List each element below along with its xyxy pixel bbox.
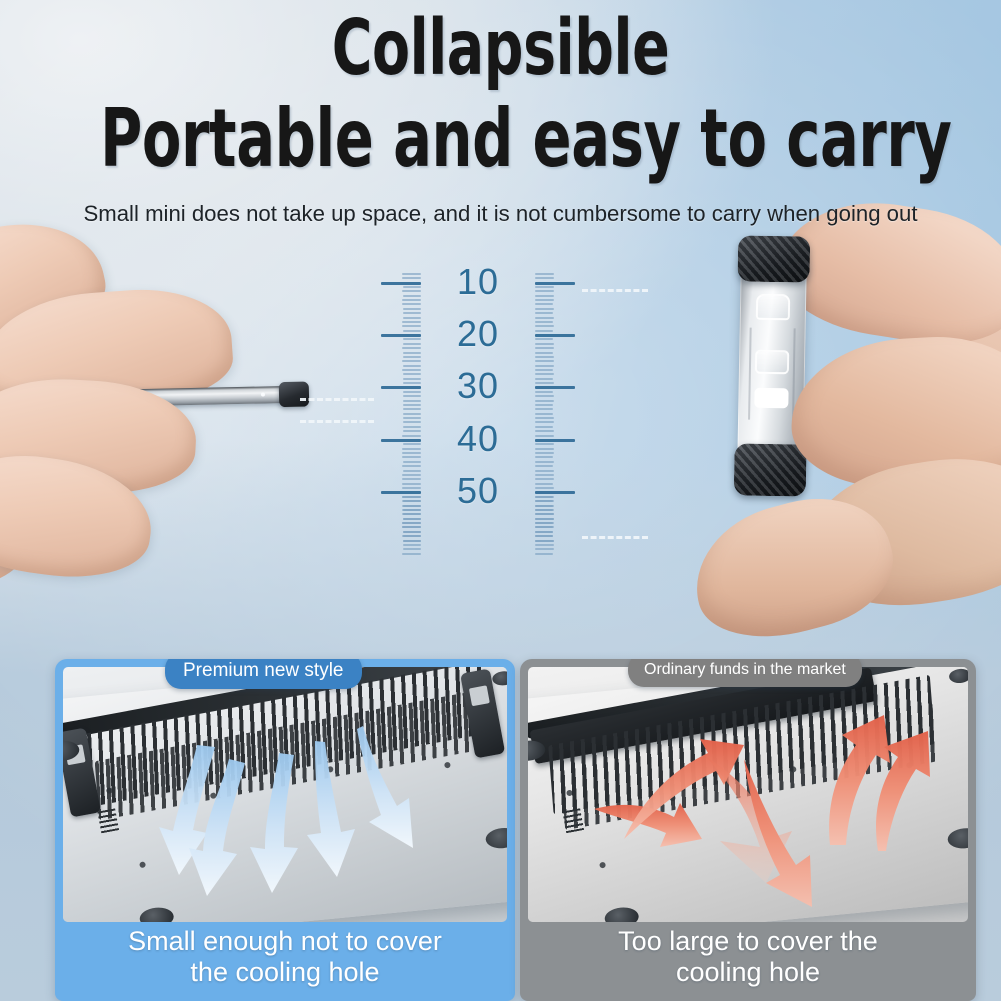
ruler-minor-tick	[535, 470, 554, 472]
ruler-minor-tick	[403, 518, 421, 520]
ruler-minor-tick	[535, 509, 554, 511]
ruler-minor-tick	[403, 413, 421, 415]
panel-ordinary: Ordinary funds in the market Too large t…	[520, 659, 976, 1001]
ruler-minor-tick	[403, 312, 421, 314]
caption-premium-line1: Small enough not to cover	[128, 926, 442, 957]
flat-stand-highlight-dot	[261, 392, 265, 396]
leader-line-top	[300, 398, 374, 401]
ruler-minor-tick	[403, 356, 421, 358]
ruler-minor-tick	[535, 483, 553, 485]
ruler-minor-tick	[402, 522, 421, 524]
subtitle-text: Small mini does not take up space, and i…	[8, 201, 994, 227]
ruler-minor-tick	[535, 338, 553, 340]
ruler-minor-tick	[535, 360, 554, 362]
ruler-major-tick	[381, 491, 421, 494]
ruler-minor-tick	[535, 317, 554, 319]
ruler-minor-tick	[403, 544, 421, 546]
ruler-minor-tick	[403, 535, 421, 537]
ruler-minor-tick	[402, 290, 421, 292]
ruler-minor-tick	[535, 365, 554, 367]
ruler-minor-tick	[535, 369, 553, 371]
ruler-minor-tick	[535, 277, 554, 279]
ruler-minor-tick	[403, 540, 421, 542]
ruler-minor-tick	[403, 365, 421, 367]
ruler-minor-tick	[535, 378, 553, 380]
ruler-minor-tick	[403, 421, 421, 423]
headline-primary: Collapsible	[100, 10, 901, 87]
panel-ordinary-photo	[528, 667, 968, 922]
ruler-minor-tick	[403, 404, 421, 406]
ruler-minor-tick	[535, 286, 554, 288]
ruler-minor-tick	[535, 273, 554, 275]
ruler-minor-tick	[402, 526, 421, 528]
ruler-number-40: 40	[423, 418, 533, 460]
ruler-number-column: 1020304050	[423, 270, 533, 556]
ruler-minor-tick	[402, 347, 421, 349]
ruler-major-tick	[381, 334, 421, 337]
ruler-minor-tick	[402, 509, 421, 511]
ruler-major-tick	[535, 386, 575, 389]
product-scale-scene: 1020304050	[0, 252, 1001, 652]
comparison-panels: Premium new style Small enough not to co…	[0, 645, 1001, 1001]
ruler-minor-tick	[535, 421, 554, 423]
ruler-minor-tick	[535, 452, 554, 454]
ruler-ticks-right	[535, 270, 583, 556]
ruler-minor-tick	[535, 391, 553, 393]
ruler-number-30: 30	[423, 365, 533, 407]
ruler-minor-tick	[403, 531, 421, 533]
ruler-minor-tick	[535, 531, 553, 533]
flat-stand-cap-right	[279, 382, 310, 408]
ruler-minor-tick	[403, 295, 421, 297]
ruler-minor-tick	[535, 325, 554, 327]
ruler-minor-tick	[535, 500, 554, 502]
ruler-minor-tick	[535, 456, 553, 458]
ruler-minor-tick	[535, 373, 554, 375]
caption-premium-line2: the cooling hole	[190, 957, 379, 988]
badge-ordinary: Ordinary funds in the market	[628, 659, 862, 687]
ruler-minor-tick	[403, 286, 421, 288]
ruler-minor-tick	[402, 513, 421, 515]
ruler-minor-tick	[403, 330, 421, 332]
ruler-minor-tick	[535, 347, 554, 349]
ruler-minor-tick	[535, 343, 554, 345]
ruler-major-tick	[381, 439, 421, 442]
ruler-minor-tick	[535, 553, 553, 555]
ruler-minor-tick	[402, 448, 421, 450]
ruler-minor-tick	[535, 312, 553, 314]
ruler-minor-tick	[535, 548, 554, 550]
caption-premium: Small enough not to cover the cooling ho…	[55, 915, 515, 999]
ruler-major-tick	[535, 491, 575, 494]
ruler-minor-tick	[402, 369, 421, 371]
ruler-minor-tick	[403, 400, 421, 402]
ruler-major-tick	[535, 334, 575, 337]
ruler-minor-tick	[402, 452, 421, 454]
ruler-minor-tick	[535, 321, 553, 323]
folded-stand-slot-middle	[755, 350, 789, 375]
ruler-minor-tick	[535, 448, 554, 450]
headline-secondary: Portable and easy to carry	[100, 99, 901, 179]
ruler-minor-tick	[403, 443, 421, 445]
ruler-minor-tick	[535, 435, 554, 437]
caption-ordinary-line1: Too large to cover the	[618, 926, 878, 957]
ruler-minor-tick	[402, 435, 421, 437]
ruler-number-20: 20	[423, 313, 533, 355]
right-hand	[625, 218, 1001, 638]
ruler-minor-tick	[402, 553, 421, 555]
ruler-minor-tick	[535, 478, 554, 480]
ruler-minor-tick	[402, 273, 421, 275]
ruler-major-tick	[535, 282, 575, 285]
ruler-minor-tick	[403, 505, 421, 507]
infographic-stage: Collapsible Portable and easy to carry S…	[0, 0, 1001, 1001]
leader-line-bottom	[300, 420, 374, 423]
ruler-minor-tick	[403, 470, 421, 472]
ruler-minor-tick	[535, 526, 554, 528]
ruler-minor-tick	[403, 408, 421, 410]
ruler-minor-tick	[535, 395, 554, 397]
ruler-minor-tick	[402, 277, 421, 279]
ruler-minor-tick	[402, 325, 421, 327]
ruler-minor-tick	[535, 513, 554, 515]
ruler-minor-tick	[535, 544, 554, 546]
ruler-minor-tick	[535, 465, 553, 467]
ruler-minor-tick	[535, 413, 553, 415]
heading-block: Collapsible Portable and easy to carry S…	[0, 10, 1001, 227]
ruler-minor-tick	[535, 308, 554, 310]
ruler-minor-tick	[535, 400, 554, 402]
ruler-minor-tick	[402, 299, 421, 301]
ruler-minor-tick	[535, 408, 553, 410]
ruler-minor-tick	[535, 426, 553, 428]
ruler-minor-tick	[535, 474, 554, 476]
folded-stand-slot-bottom	[754, 388, 788, 409]
panel-premium: Premium new style Small enough not to co…	[55, 659, 515, 1001]
left-hand	[0, 244, 312, 604]
ruler-minor-tick	[535, 535, 553, 537]
badge-premium: Premium new style	[165, 659, 362, 689]
airflow-arrows-cool	[63, 667, 507, 922]
ruler-minor-tick	[402, 303, 421, 305]
ruler-minor-tick	[535, 356, 554, 358]
ruler-minor-tick	[403, 426, 421, 428]
ruler-minor-tick	[402, 465, 421, 467]
ruler-minor-tick	[402, 360, 421, 362]
ruler-minor-tick	[535, 290, 554, 292]
ruler-minor-tick	[403, 378, 421, 380]
ruler-minor-tick	[402, 474, 421, 476]
ruler-minor-tick	[403, 308, 421, 310]
ruler-minor-tick	[403, 430, 421, 432]
ruler-minor-tick	[403, 391, 421, 393]
ruler-minor-tick	[535, 443, 554, 445]
ruler-minor-tick	[535, 382, 554, 384]
measurement-ruler: 1020304050	[373, 270, 583, 556]
ruler-minor-tick	[402, 321, 421, 323]
caption-ordinary-line2: cooling hole	[676, 957, 820, 988]
ruler-minor-tick	[535, 303, 553, 305]
ruler-number-50: 50	[423, 470, 533, 512]
ruler-minor-tick	[535, 522, 554, 524]
ruler-minor-tick	[535, 352, 553, 354]
ruler-minor-tick	[535, 330, 553, 332]
ruler-minor-tick	[402, 483, 421, 485]
ruler-minor-tick	[403, 317, 421, 319]
ruler-minor-tick	[402, 496, 421, 498]
ruler-minor-tick	[535, 540, 554, 542]
ruler-number-10: 10	[423, 261, 533, 303]
ruler-major-tick	[381, 282, 421, 285]
ruler-minor-tick	[403, 373, 421, 375]
ruler-minor-tick	[403, 500, 421, 502]
ruler-major-tick	[535, 439, 575, 442]
ruler-minor-tick	[402, 456, 421, 458]
folded-stand-seam-left	[748, 328, 752, 420]
ruler-minor-tick	[535, 505, 553, 507]
ruler-minor-tick	[403, 343, 421, 345]
ruler-major-tick	[381, 386, 421, 389]
caption-ordinary: Too large to cover the cooling hole	[520, 915, 976, 999]
ruler-minor-tick	[403, 461, 421, 463]
ruler-minor-tick	[535, 404, 553, 406]
ruler-minor-tick	[403, 352, 421, 354]
folded-stand-slot-top	[756, 294, 790, 321]
folded-stand-cap-bottom	[734, 443, 807, 496]
ruler-minor-tick	[403, 338, 421, 340]
panel-premium-photo	[63, 667, 507, 922]
ruler-minor-tick	[535, 430, 554, 432]
ruler-minor-tick	[535, 487, 554, 489]
ruler-ticks-left	[373, 270, 421, 556]
ruler-minor-tick	[403, 395, 421, 397]
airflow-arrows-hot	[528, 667, 968, 922]
ruler-minor-tick	[535, 299, 554, 301]
ruler-minor-tick	[403, 417, 421, 419]
ruler-minor-tick	[535, 295, 554, 297]
ruler-minor-tick	[403, 382, 421, 384]
ruler-minor-tick	[535, 518, 554, 520]
ruler-minor-tick	[535, 496, 554, 498]
ruler-minor-tick	[402, 478, 421, 480]
ruler-minor-tick	[403, 548, 421, 550]
ruler-minor-tick	[402, 487, 421, 489]
product-folded-vertical	[733, 235, 812, 496]
folded-stand-cap-top	[737, 235, 810, 282]
ruler-minor-tick	[535, 417, 554, 419]
ruler-minor-tick	[535, 461, 554, 463]
